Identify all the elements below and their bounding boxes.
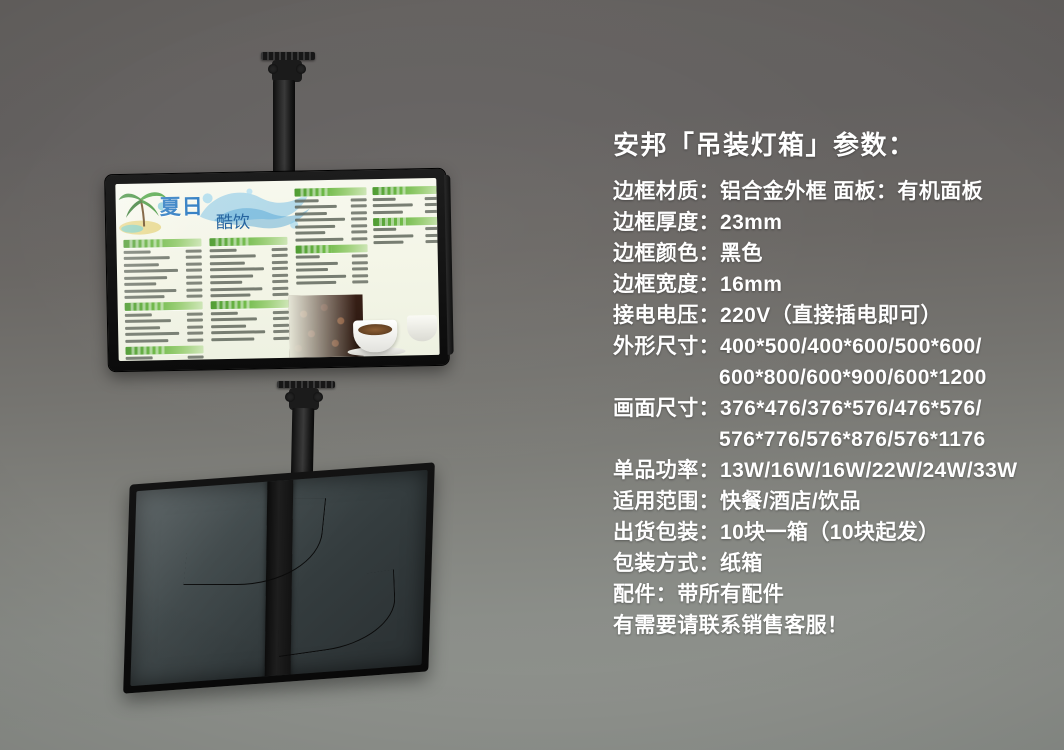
menu-section-title [131, 302, 164, 311]
menu-item-row [126, 354, 204, 360]
menu-item-price [272, 254, 288, 257]
menu-item-name [210, 261, 245, 265]
menu-section-banner [296, 244, 368, 253]
menu-item-row [295, 216, 367, 222]
menu-section-banner [125, 301, 203, 310]
menu-item-name [295, 231, 325, 235]
menu-column-4 [372, 186, 439, 248]
menu-item-row [210, 266, 288, 272]
menu-item-price [186, 288, 202, 291]
menu-item-row [210, 259, 288, 265]
menu-item-name [124, 250, 151, 254]
menu-column-3 [294, 187, 368, 288]
ceiling-plate-upper [261, 52, 315, 60]
menu-section-banner [209, 237, 287, 246]
menu-item-name [296, 281, 336, 285]
menu-item-price [272, 247, 288, 250]
menu-item-price [186, 249, 202, 252]
menu-item-price [186, 294, 202, 297]
spec-line-2: 边框颜色：黑色 [613, 238, 1043, 269]
menu-item-row [124, 293, 202, 299]
menu-face: 夏日 酷饮 [115, 178, 439, 361]
menu-item-price [352, 280, 368, 283]
menu-item-name [295, 205, 337, 209]
menu-column-2 [209, 237, 289, 345]
menu-item-name [295, 199, 319, 202]
menu-item-row [210, 279, 288, 285]
menu-item-name [125, 326, 160, 330]
menu-item-name [124, 295, 164, 299]
menu-item-row [125, 330, 203, 336]
menu-section-banner [372, 186, 439, 195]
menu-item-price [187, 331, 203, 334]
menu-item-row [125, 337, 203, 343]
menu-section-title [129, 239, 162, 248]
menu-item-row [211, 316, 289, 322]
swivel-knob-lower-right [313, 392, 323, 402]
menu-item-price [272, 267, 288, 270]
menu-item-row [373, 239, 439, 245]
menu-item-name [124, 269, 178, 273]
menu-item-row [211, 335, 289, 341]
menu-item-price [351, 230, 367, 233]
menu-item-price [352, 267, 368, 270]
menu-item-price [425, 227, 439, 230]
menu-item-row [124, 274, 202, 280]
menu-item-row [296, 266, 368, 272]
menu-item-row [373, 195, 440, 201]
menu-item-price [186, 268, 202, 271]
specifications-lines: 边框材质：铝合金外框 面板：有机面板边框厚度：23mm边框颜色：黑色边框宽度：1… [613, 176, 1043, 641]
menu-item-row [295, 229, 367, 235]
swivel-knob-upper-left [268, 64, 278, 74]
menu-item-row [211, 309, 289, 315]
menu-item-name [373, 210, 403, 214]
menu-item-row [211, 322, 289, 328]
menu-item-name [125, 339, 168, 343]
menu-item-name [210, 267, 264, 271]
menu-item-name [373, 203, 413, 207]
menu-item-row [124, 254, 202, 260]
menu-item-row [295, 223, 367, 229]
product-photo-scene: 夏日 酷饮 [0, 0, 1064, 750]
menu-item-name [211, 330, 265, 334]
spec-line-8: 576*776/576*876/576*1176 [613, 424, 1043, 455]
menu-item-row [296, 253, 368, 259]
spec-line-6: 600*800/600*900/600*1200 [613, 362, 1043, 393]
menu-item-price [351, 237, 367, 240]
spec-line-12: 包装方式：纸箱 [613, 548, 1043, 579]
frame-depth-edge [444, 175, 453, 355]
menu-item-name [124, 282, 156, 286]
menu-item-name [125, 332, 179, 336]
menu-section [294, 187, 367, 242]
menu-item-price [351, 217, 367, 220]
menu-item-price [351, 204, 367, 207]
menu-item-row [210, 292, 288, 298]
menu-section-title [300, 188, 330, 197]
menu-item-row [295, 236, 367, 242]
menu-section-title [379, 217, 408, 226]
menu-section-title [302, 244, 332, 253]
menu-item-row [296, 279, 368, 285]
menu-item-row [373, 208, 440, 214]
menu-column-1 [123, 238, 203, 361]
menu-item-price [272, 273, 288, 276]
menu-hero-title-line1: 夏日 [159, 190, 204, 221]
menu-item-price [425, 240, 439, 243]
menu-item-price [352, 254, 368, 257]
menu-item-price [187, 325, 203, 328]
menu-item-row [373, 226, 439, 232]
mount-plate-holes-icon [277, 381, 335, 388]
spec-line-0: 边框材质：铝合金外框 面板：有机面板 [613, 176, 1043, 207]
spec-line-1: 边框厚度：23mm [613, 207, 1043, 238]
specifications-title: 安邦「吊装灯箱」参数： [613, 128, 1043, 162]
menu-item-row [211, 329, 289, 335]
specifications-block: 安邦「吊装灯箱」参数： 边框材质：铝合金外框 面板：有机面板边框厚度：23mm边… [613, 128, 1043, 641]
menu-item-name [210, 248, 237, 252]
menu-item-row [210, 253, 288, 259]
menu-item-price [351, 224, 367, 227]
menu-section [209, 237, 288, 298]
menu-item-name [210, 281, 242, 285]
menu-item-price [273, 336, 289, 339]
menu-item-row [124, 287, 202, 293]
menu-item-price [187, 312, 203, 315]
menu-item-price [273, 310, 289, 313]
menu-item-row [125, 324, 203, 330]
menu-item-price [351, 198, 367, 201]
menu-item-price [188, 355, 204, 358]
menu-item-price [187, 338, 203, 341]
menu-item-row [373, 202, 440, 208]
menu-section-title [378, 186, 407, 195]
menu-hero-title-line2: 酷饮 [216, 208, 250, 234]
menu-item-name [211, 337, 254, 341]
menu-item-name [295, 218, 345, 222]
menu-item-name [125, 313, 152, 317]
spec-line-4: 接电电压：220V（直接插电即可） [613, 300, 1043, 331]
spec-line-9: 单品功率：13W/16W/16W/22W/24W/33W [613, 455, 1043, 486]
menu-sections-container [119, 234, 437, 359]
menu-item-name [373, 228, 396, 231]
menu-section-banner [123, 238, 201, 247]
menu-section [296, 244, 369, 286]
menu-item-name [295, 212, 327, 216]
spec-line-13: 配件：带所有配件 [613, 579, 1043, 610]
menu-item-row [295, 210, 367, 216]
spec-line-10: 适用范围：快餐/酒店/饮品 [613, 486, 1043, 517]
menu-item-price [273, 330, 289, 333]
menu-item-name [210, 287, 262, 291]
menu-item-name [373, 234, 413, 238]
menu-item-name [124, 256, 170, 260]
menu-item-name [210, 254, 256, 258]
menu-item-price [352, 261, 368, 264]
menu-item-price [352, 274, 368, 277]
menu-item-name [126, 356, 153, 360]
menu-item-price [425, 209, 440, 212]
spec-line-11: 出货包装：10块一箱（10块起发） [613, 517, 1043, 548]
swivel-knob-upper-right [296, 64, 306, 74]
spec-line-3: 边框宽度：16mm [613, 269, 1043, 300]
menu-item-name [124, 276, 167, 280]
menu-section [372, 186, 439, 215]
menu-item-row [295, 197, 367, 203]
menu-item-row [125, 311, 203, 317]
menu-item-name [210, 294, 250, 298]
menu-item-row [124, 261, 202, 267]
menu-section [125, 345, 203, 361]
menu-item-name [125, 319, 171, 323]
spec-line-14: 有需要请联系销售客服！ [613, 610, 1043, 641]
menu-item-row [124, 248, 202, 254]
menu-item-row [296, 273, 368, 279]
menu-section [211, 300, 290, 342]
menu-item-name [211, 317, 257, 321]
menu-item-name [373, 197, 396, 200]
menu-item-name [296, 255, 320, 258]
rear-panel-surface [130, 470, 427, 686]
spec-line-7: 画面尺寸：376*476/376*576/476*576/ [613, 393, 1043, 424]
swivel-knob-lower-left [285, 392, 295, 402]
menu-section-banner [125, 345, 203, 354]
menu-item-price [425, 233, 439, 236]
menu-item-price [273, 317, 289, 320]
mount-pole-upper [273, 80, 295, 180]
menu-item-row [295, 203, 367, 209]
menu-item-price [186, 262, 202, 265]
menu-item-price [186, 275, 202, 278]
menu-item-row [124, 267, 202, 273]
menu-item-name [124, 263, 159, 267]
menu-section [373, 216, 440, 245]
menu-item-price [187, 318, 203, 321]
menu-item-row [296, 260, 368, 266]
menu-item-name [296, 261, 338, 265]
menu-item-price [425, 196, 440, 199]
menu-item-price [186, 281, 202, 284]
menu-section-banner [211, 300, 289, 309]
menu-item-name [210, 274, 253, 278]
menu-section-title [217, 301, 250, 310]
menu-item-row [210, 246, 288, 252]
menu-item-name [373, 241, 403, 245]
spec-line-5: 外形尺寸：400*500/400*600/500*600/ [613, 331, 1043, 362]
menu-item-row [125, 317, 203, 323]
menu-section-title [131, 346, 164, 355]
lightbox-front-menu: 夏日 酷饮 [105, 169, 449, 371]
menu-item-name [296, 268, 328, 272]
lightbox-rear-panel [123, 462, 435, 693]
menu-item-row [210, 285, 288, 291]
menu-section-title [215, 238, 248, 247]
ceiling-plate-holes-icon [261, 52, 315, 60]
menu-section [125, 301, 204, 343]
menu-item-name [211, 324, 246, 328]
menu-item-price [272, 260, 288, 263]
menu-item-name [295, 224, 335, 228]
menu-section-banner [373, 216, 440, 225]
menu-item-row [124, 280, 202, 286]
menu-item-row [373, 232, 439, 238]
menu-item-price [425, 203, 440, 206]
menu-item-price [351, 211, 367, 214]
menu-item-name [124, 288, 176, 292]
menu-item-price [273, 323, 289, 326]
mount-plate-lower [277, 381, 335, 388]
menu-item-name [296, 274, 346, 278]
menu-item-price [272, 280, 288, 283]
menu-item-row [210, 272, 288, 278]
menu-section-banner [294, 187, 366, 196]
menu-item-name [295, 237, 343, 241]
menu-item-price [186, 255, 202, 258]
menu-item-price [272, 293, 288, 296]
menu-item-name [211, 311, 238, 315]
menu-item-price [272, 286, 288, 289]
menu-section [123, 238, 202, 299]
